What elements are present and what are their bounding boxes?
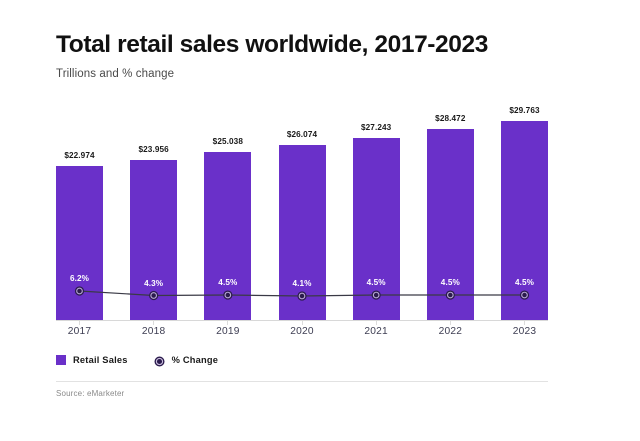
tick-mark (302, 321, 303, 325)
line-marker[interactable] (223, 290, 232, 299)
legend-label-pct-change: % Change (172, 355, 219, 365)
plot-area: $22.974$23.956$25.038$26.074$27.243$28.4… (56, 100, 548, 321)
x-axis-label: 2022 (413, 326, 488, 337)
x-axis-label: 2017 (42, 326, 117, 337)
source-note: Source: eMarketer (56, 389, 124, 398)
line-marker[interactable] (297, 291, 306, 300)
pct-change-label: 4.5% (495, 278, 555, 287)
tick-mark (227, 321, 228, 325)
x-axis-label: 2021 (339, 326, 414, 337)
chart-figure: Total retail sales worldwide, 2017-2023 … (0, 0, 640, 441)
square-swatch-icon (56, 355, 66, 365)
line-marker[interactable] (446, 290, 455, 299)
chart-title: Total retail sales worldwide, 2017-2023 (56, 32, 586, 59)
line-marker[interactable] (75, 286, 84, 295)
chart-legend: Retail Sales % Change (56, 354, 218, 365)
line-marker[interactable] (520, 290, 529, 299)
pct-change-label: 4.3% (124, 279, 184, 288)
tick-mark (524, 321, 525, 325)
legend-item-retail-sales[interactable]: Retail Sales (56, 355, 128, 365)
x-axis-labels: 2017201820192020202120222023 (56, 326, 548, 342)
pct-change-label: 6.2% (50, 274, 110, 283)
x-axis-label: 2018 (116, 326, 191, 337)
line-marker[interactable] (372, 290, 381, 299)
x-axis-label: 2023 (487, 326, 562, 337)
x-axis-label: 2020 (265, 326, 340, 337)
pct-change-label: 4.5% (346, 278, 406, 287)
chart-subtitle: Trillions and % change (56, 68, 586, 80)
tick-mark (450, 321, 451, 325)
tick-mark (79, 321, 80, 325)
pct-change-label: 4.5% (420, 278, 480, 287)
legend-label-retail-sales: Retail Sales (73, 355, 128, 365)
legend-item-pct-change[interactable]: % Change (154, 354, 219, 365)
chart-header: Total retail sales worldwide, 2017-2023 … (56, 32, 586, 80)
source-divider (56, 381, 548, 382)
pct-change-label: 4.1% (272, 279, 332, 288)
x-axis-label: 2019 (190, 326, 265, 337)
pct-change-label: 4.5% (198, 278, 258, 287)
tick-mark (376, 321, 377, 325)
line-marker[interactable] (149, 291, 158, 300)
tick-mark (153, 321, 154, 325)
circle-marker-icon (154, 354, 165, 365)
